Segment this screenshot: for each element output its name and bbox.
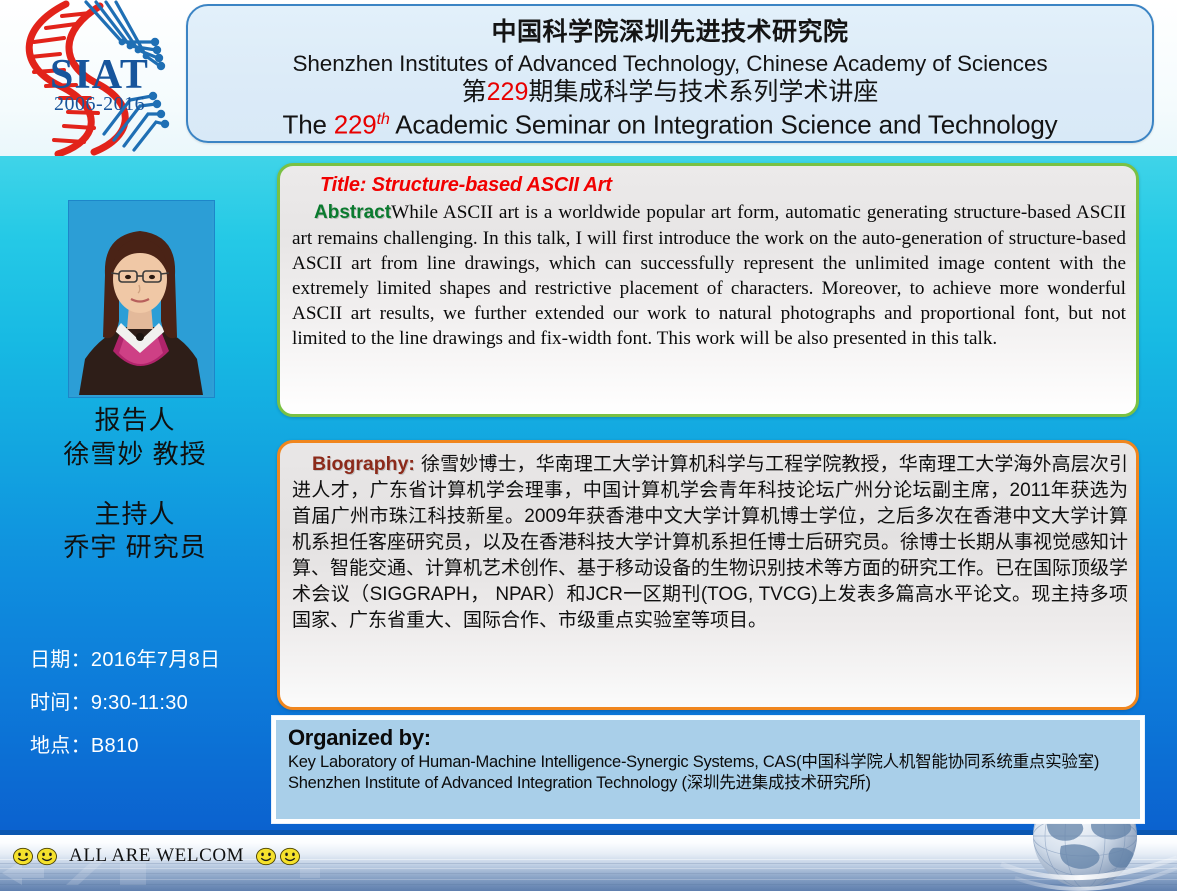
series-number-cn: 229	[487, 78, 529, 106]
biography-panel: Biography:徐雪妙博士，华南理工大学计算机科学与工程学院教授，华南理工大…	[277, 440, 1139, 710]
abstract-text-block: AbstractWhile ASCII art is a worldwide p…	[292, 200, 1126, 351]
talk-title: Title: Structure-based ASCII Art	[292, 173, 1126, 198]
series-ordinal-suffix: th	[377, 110, 390, 128]
siat-logo: SIAT 2006-2016	[2, 0, 188, 156]
event-time: 时间：9:30-11:30	[30, 693, 275, 713]
welcome-text: ALL ARE WELCOM	[69, 845, 244, 867]
event-details: 日期：2016年7月8日 时间：9:30-11:30 地点：B810	[30, 650, 275, 779]
biography-text: 徐雪妙博士，华南理工大学计算机科学与工程学院教授，华南理工大学海外高层次引进人才…	[292, 454, 1128, 631]
organized-by-panel: Organized by: Key Laboratory of Human-Ma…	[272, 716, 1144, 823]
organized-by-title: Organized by:	[288, 725, 1132, 752]
speaker-label: 报告人	[0, 404, 270, 438]
abstract-text: While ASCII art is a worldwide popular a…	[292, 202, 1126, 349]
organizer-line-2: Shenzhen Institute of Advanced Integrati…	[288, 773, 1132, 794]
seminar-header-banner: 中国科学院深圳先进技术研究院 Shenzhen Institutes of Ad…	[186, 4, 1154, 143]
header-institute-cn: 中国科学院深圳先进技术研究院	[188, 14, 1152, 46]
abstract-panel: Title: Structure-based ASCII Art Abstrac…	[277, 163, 1139, 417]
header-institute-en: Shenzhen Institutes of Advanced Technolo…	[188, 46, 1152, 76]
event-venue: 地点：B810	[30, 736, 275, 756]
organizer-line-1: Key Laboratory of Human-Machine Intellig…	[288, 752, 1132, 773]
smiley-icon	[255, 847, 277, 866]
speaker-and-host-info: 报告人 徐雪妙 教授 主持人 乔宇 研究员	[0, 404, 270, 565]
series-cn-prefix: 第	[462, 78, 487, 106]
globe-decoration	[927, 812, 1177, 891]
abstract-label: Abstract	[314, 202, 391, 223]
series-en-prefix: The	[283, 110, 334, 140]
event-date: 日期：2016年7月8日	[30, 650, 275, 670]
header-series-en: The 229th Academic Seminar on Integratio…	[188, 106, 1152, 139]
series-en-suffix: Academic Seminar on Integration Science …	[390, 110, 1058, 140]
smiley-icon	[36, 847, 58, 866]
welcome-footer: ALL ARE WELCOM	[12, 845, 301, 867]
header-series-cn: 第229期集成科学与技术系列学术讲座	[188, 75, 1152, 106]
logo-wordmark: SIAT	[50, 52, 149, 98]
speaker-photo	[68, 200, 215, 398]
series-number-en: 229	[334, 110, 377, 140]
logo-years: 2006-2016	[54, 93, 145, 115]
biography-label: Biography:	[312, 453, 415, 475]
host-name: 乔宇 研究员	[0, 531, 270, 565]
smiley-icon	[279, 847, 301, 866]
smiley-icon	[12, 847, 34, 866]
series-cn-suffix: 期集成科学与技术系列学术讲座	[528, 78, 878, 106]
host-label: 主持人	[0, 498, 270, 532]
biography-text-block: Biography:徐雪妙博士，华南理工大学计算机科学与工程学院教授，华南理工大…	[292, 451, 1128, 633]
speaker-name: 徐雪妙 教授	[0, 438, 270, 472]
